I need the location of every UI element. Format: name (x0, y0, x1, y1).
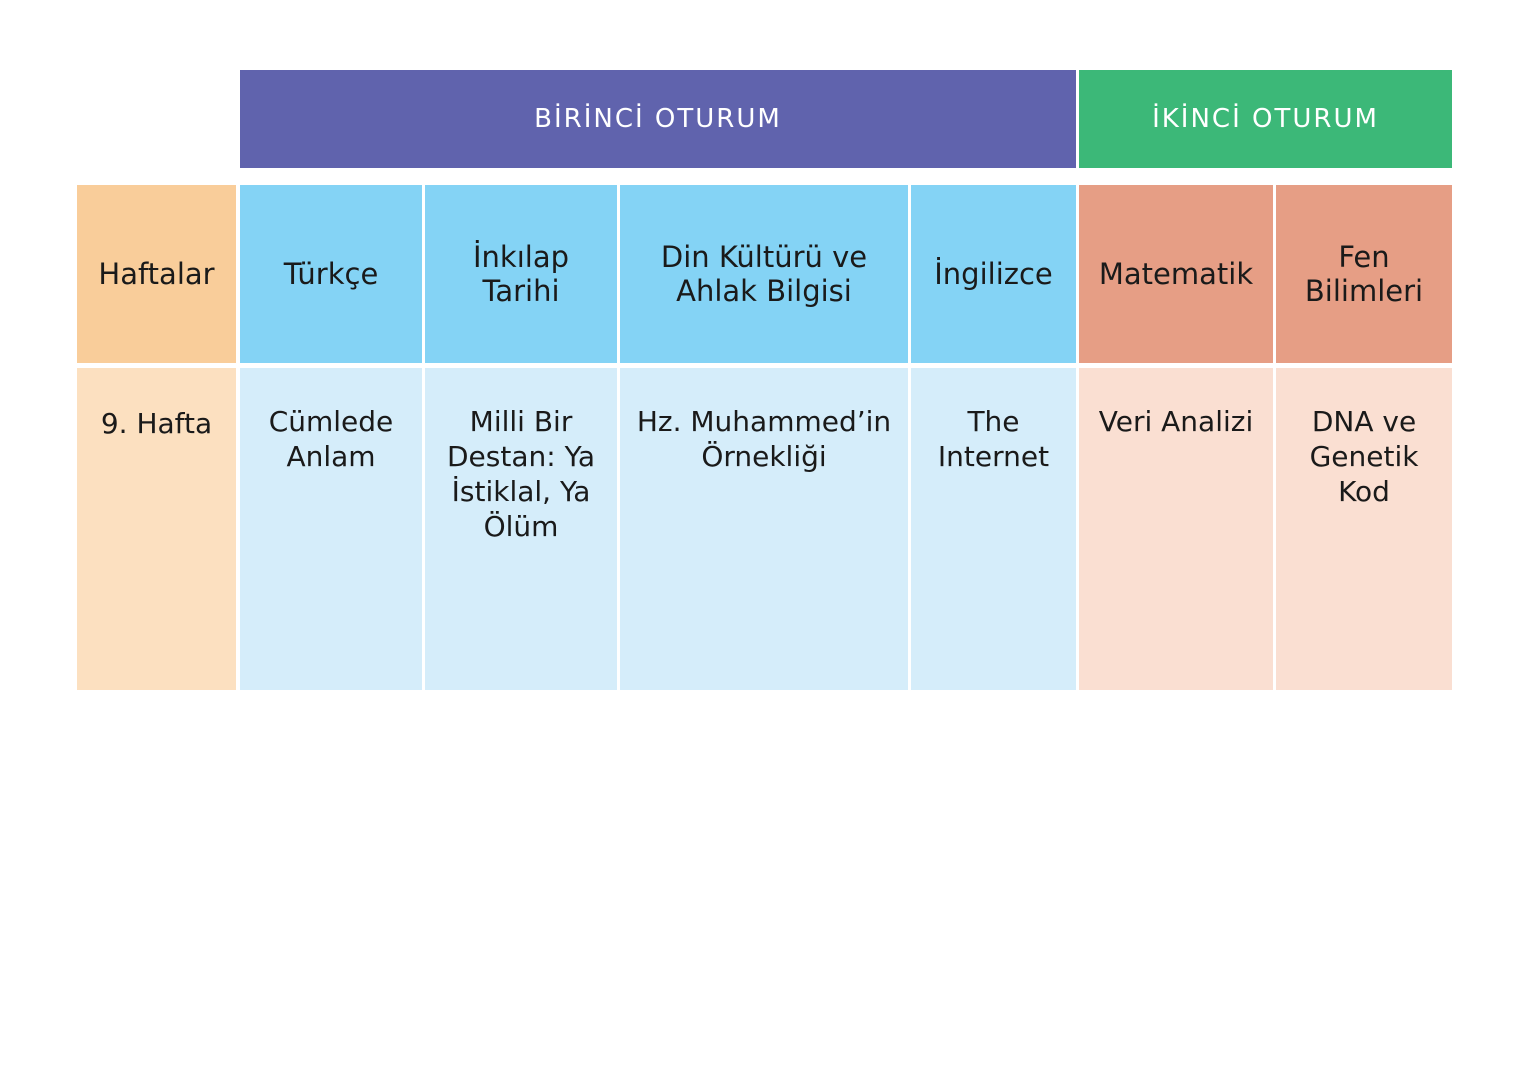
column-header-ingilizce: İngilizce (911, 185, 1076, 363)
column-header-turkce: Türkçe (240, 185, 422, 363)
table-cell-matematik: Veri Analizi (1079, 368, 1273, 690)
table-row-week-label: 9. Hafta (77, 368, 236, 690)
session-band: BİRİNCİ OTURUM İKİNCİ OTURUM (77, 70, 1452, 168)
column-header-inkilap: İnkılap Tarihi (425, 185, 617, 363)
column-header-matematik: Matematik (1079, 185, 1273, 363)
weekly-schedule-table: BİRİNCİ OTURUM İKİNCİ OTURUM Haftalar Tü… (77, 70, 1452, 690)
session-header-second: İKİNCİ OTURUM (1079, 70, 1452, 168)
table-cell-inkilap: Milli Bir Destan: Ya İstiklal, Ya Ölüm (425, 368, 617, 690)
column-header-fen: Fen Bilimleri (1276, 185, 1452, 363)
table-cell-din-kulturu: Hz. Muhammed’in Örnekliği (620, 368, 908, 690)
session-header-first: BİRİNCİ OTURUM (240, 70, 1076, 168)
table-cell-turkce: Cümlede Anlam (240, 368, 422, 690)
table-cell-fen: DNA ve Genetik Kod (1276, 368, 1452, 690)
column-header-weeks: Haftalar (77, 185, 236, 363)
column-header-din-kulturu: Din Kültürü ve Ahlak Bilgisi (620, 185, 908, 363)
table-cell-ingilizce: The Internet (911, 368, 1076, 690)
